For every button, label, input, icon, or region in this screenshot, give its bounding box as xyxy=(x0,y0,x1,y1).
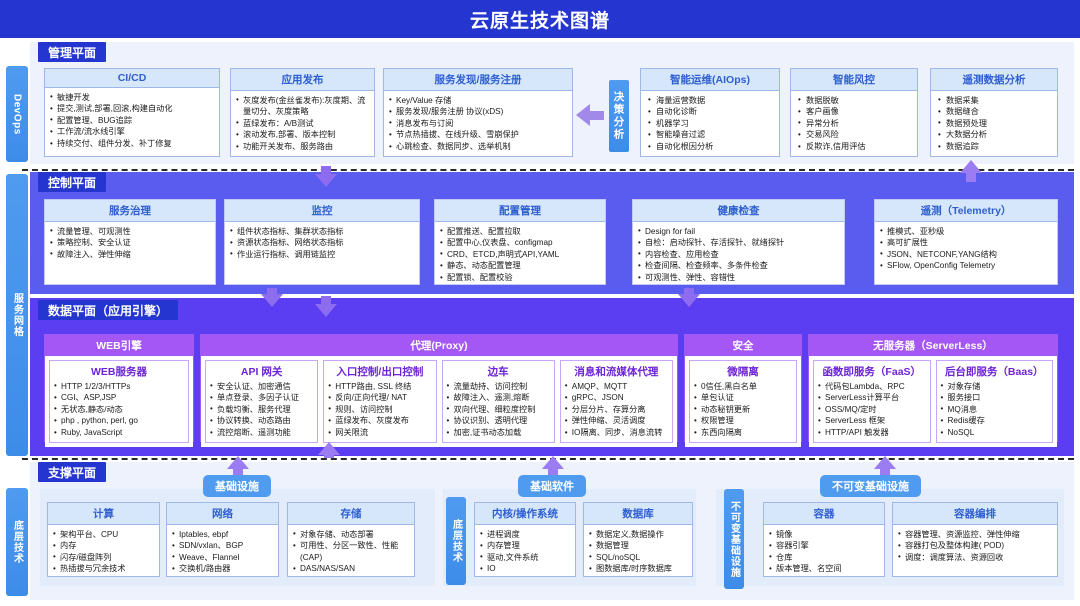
control-to-data-arrow-head-2 xyxy=(678,294,700,307)
subcard-web-server-items: HTTP 1/2/3/HTTPsCGI、ASP,JSP无状态,静态/动态php … xyxy=(54,381,184,439)
decision-analysis-label: 决策分析 xyxy=(612,91,627,141)
rail-label-immutable-infra: 不可变基础设施 xyxy=(727,501,742,578)
list-item: 容器引擎 xyxy=(769,540,879,552)
list-item: 数据缝合 xyxy=(936,106,1052,118)
rail-label-devops: DevOps xyxy=(12,94,23,135)
page-title: 云原生技术图谱 xyxy=(470,6,610,33)
list-item: 反向/正向代理/ NAT xyxy=(328,392,431,404)
list-item: 容器打包及整体构建( POD) xyxy=(898,540,1052,552)
list-item: 可观测性、弹性、容错性 xyxy=(638,272,839,284)
card-health-check: 健康检查 Design for fail自检：启动探针、存活探针、就绪探针内容检… xyxy=(632,199,845,285)
group-serverless: 无服务器（ServerLess） 函数即服务（FaaS） 代码包Lambda、R… xyxy=(808,334,1058,442)
list-item: 对象存储 xyxy=(941,381,1049,393)
decision-arrow-head xyxy=(576,104,590,126)
rail-label-underlying-tech-2: 底层技术 xyxy=(449,519,464,563)
card-compute-title: 计算 xyxy=(48,503,159,525)
card-app-release: 应用发布 灰度发布(金丝雀发布):灰度期、流量切分、灰度策略蓝绿发布：A/B测试… xyxy=(230,68,375,157)
card-monitoring: 监控 组件状态指标、集群状态指标资源状态指标、网络状态指标作业运行指标、调用链监… xyxy=(224,199,420,285)
chip-support-plane: 支撑平面 xyxy=(38,462,106,482)
sidebar-rail-underlying-tech-2: 底层技术 xyxy=(446,497,466,585)
telemetry-arrow-head xyxy=(960,160,982,173)
mgmt-to-control-arrow-stem xyxy=(321,166,331,174)
sidebar-rail-service-mesh: 服务网格 xyxy=(6,174,28,456)
list-item: 敏捷开发 xyxy=(50,92,214,104)
list-item: 服务发现/服务注册 协议(xDS) xyxy=(389,106,567,118)
data-up-arrow-head xyxy=(318,442,340,455)
subcard-baas-items: 对象存储服务接口MQ消息Redis缓存NoSQL xyxy=(941,381,1049,439)
mgmt-to-control-arrow-head xyxy=(315,174,337,187)
card-telemetry-title: 遥测（Telemetry） xyxy=(875,200,1057,222)
subcard-ingress-egress: 入口控制/出口控制 HTTP路由, SSL 终结反向/正向代理/ NAT规则、访… xyxy=(323,360,436,443)
list-item: 驱动,文件系统 xyxy=(480,552,570,564)
subcard-baas-title: 后台即服务（Baas） xyxy=(937,361,1053,380)
decision-analysis-chip: 决策分析 xyxy=(609,80,629,152)
pill-immutable-infrastructure: 不可变基础设施 xyxy=(820,475,921,497)
list-item: 自检：启动探针、存活探针、就绪探针 xyxy=(638,237,839,249)
card-service-governance: 服务治理 流量管理、可观测性策略控制、安全认证故障注入、弹性伸缩 xyxy=(44,199,216,285)
chip-control-plane-label: 控制平面 xyxy=(48,174,96,191)
list-item: IO xyxy=(480,563,570,575)
subcard-ingress-egress-items: HTTP路由, SSL 终结反向/正向代理/ NAT规则、访问控制蓝绿发布、灰度… xyxy=(328,381,431,439)
cloud-native-tech-map: 云原生技术图谱 DevOps 服务网格 底层技术 管理平面 控制平面 数据平面（… xyxy=(0,0,1080,606)
list-item: 数据预处理 xyxy=(936,118,1052,130)
list-item: 协议识别、透明代理 xyxy=(447,415,550,427)
list-item: 资源状态指标、网络状态指标 xyxy=(230,237,414,249)
card-aiops-title: 智能运维(AIOps) xyxy=(641,69,779,91)
list-item: 灰度发布(金丝雀发布):灰度期、流量切分、灰度策略 xyxy=(236,95,369,118)
list-item: 节点热插拔、在线升级、雪崩保护 xyxy=(389,129,567,141)
list-item: 心跳检查、数据同步、选举机制 xyxy=(389,141,567,153)
card-storage: 存储 对象存储、动态部署可用性、分区一致性、性能(CAP)DAS/NAS/SAN xyxy=(287,502,415,577)
service-mesh-top-divider xyxy=(22,169,1074,171)
subcard-faas: 函数即服务（FaaS） 代码包Lambda、RPCServerLess计算平台O… xyxy=(813,360,931,443)
telemetry-arrow-stem xyxy=(966,172,976,182)
list-item: php , python, perl, go xyxy=(54,415,184,427)
card-network-title: 网络 xyxy=(167,503,278,525)
pill-infrastructure: 基础设施 xyxy=(203,475,271,497)
subcard-faas-items: 代码包Lambda、RPCServerLess计算平台OSS/MQ/定时Serv… xyxy=(818,381,926,439)
card-intelligent-risk-title: 智能风控 xyxy=(791,69,917,91)
list-item: 动态秘钥更新 xyxy=(694,404,792,416)
card-monitoring-items: 组件状态指标、集群状态指标资源状态指标、网络状态指标作业运行指标、调用链监控 xyxy=(230,226,414,261)
list-item: 海量运营数据 xyxy=(646,95,774,107)
subcard-micro-segmentation: 微隔离 0信任,黑白名单单包认证动态秘钥更新权限管理东西向隔离 xyxy=(689,360,797,443)
group-serverless-title: 无服务器（ServerLess） xyxy=(809,335,1057,356)
list-item: 高可扩展性 xyxy=(880,237,1052,249)
pill-immutable-infrastructure-label: 不可变基础设施 xyxy=(832,478,909,494)
list-item: 故障注入、弹性伸缩 xyxy=(50,249,210,261)
basic-software-arrow-head xyxy=(542,456,564,469)
list-item: 滚动发布,部署、版本控制 xyxy=(236,129,369,141)
list-item: Key/Value 存储 xyxy=(389,95,567,107)
pill-infrastructure-label: 基础设施 xyxy=(215,478,259,494)
list-item: 负载均衡、服务代理 xyxy=(210,404,313,416)
list-item: 大数据分析 xyxy=(936,129,1052,141)
list-item: IO隔离、同步、消息流转 xyxy=(565,427,668,439)
card-telemetry-analysis-title: 遥测数据分析 xyxy=(931,69,1057,91)
list-item: 仓库 xyxy=(769,552,879,564)
subcard-micro-segmentation-title: 微隔离 xyxy=(690,361,796,380)
list-item: Redis缓存 xyxy=(941,415,1049,427)
card-database-items: 数据定义,数据操作数据管理SQL/noSQL图数据库/时序数据库 xyxy=(589,529,687,576)
group-web-engine: WEB引擎 WEB服务器 HTTP 1/2/3/HTTPsCGI、ASP,JSP… xyxy=(44,334,194,442)
card-container-title: 容器 xyxy=(764,503,884,525)
list-item: Design for fail xyxy=(638,226,839,238)
list-item: 静态、动态配置管理 xyxy=(440,260,600,272)
chip-management-plane: 管理平面 xyxy=(38,42,106,62)
card-cicd-items: 敏捷开发提交,测试,部署,回滚,构建自动化配置管理、BUG追踪工作流/流水线引擎… xyxy=(50,92,214,150)
card-telemetry-items: 推模式、亚秒级高可扩展性JSON、NETCONF,YANG结构SFlow, Op… xyxy=(880,226,1052,273)
list-item: OSS/MQ/定时 xyxy=(818,404,926,416)
card-intelligent-risk-items: 数据脱敏客户画像异常分析交易风险反欺诈,信用评估 xyxy=(796,95,912,153)
list-item: 配置锁、配置校验 xyxy=(440,272,600,284)
card-telemetry: 遥测（Telemetry） 推模式、亚秒级高可扩展性JSON、NETCONF,Y… xyxy=(874,199,1058,285)
list-item: MQ消息 xyxy=(941,404,1049,416)
list-item: 配置管理、BUG追踪 xyxy=(50,115,214,127)
subcard-api-gateway-items: 安全认证、加密通信单点登录、多因子认证负载均衡、服务代理协议转换、动态路由流控熔… xyxy=(210,381,313,439)
list-item: 推模式、亚秒级 xyxy=(880,226,1052,238)
title-bar: 云原生技术图谱 xyxy=(0,0,1080,38)
list-item: 数据脱敏 xyxy=(796,95,912,107)
infra-arrow-head xyxy=(227,456,249,469)
card-app-release-title: 应用发布 xyxy=(231,69,374,91)
list-item: 内存管理 xyxy=(480,540,570,552)
list-item: CRD、ETCD,声明式API,YAML xyxy=(440,249,600,261)
list-item: 规则、访问控制 xyxy=(328,404,431,416)
card-aiops: 智能运维(AIOps) 海量运营数据自动化诊断机器学习智能噪音过滤自动化根因分析 xyxy=(640,68,780,157)
pill-basic-software-label: 基础软件 xyxy=(530,478,574,494)
subcard-sidecar: 边车 流量劫持、访问控制故障注入、遥测,熔断双向代理、细粒度控制协议识别、透明代… xyxy=(442,360,555,443)
card-network-items: Iptables, ebpfSDN/vxlan、BGPWeave、Flannel… xyxy=(172,529,273,576)
list-item: 机器学习 xyxy=(646,118,774,130)
sidebar-rail-underlying-tech: 底层技术 xyxy=(6,488,28,596)
list-item: 蓝绿发布、灰度发布 xyxy=(328,415,431,427)
list-item: 代码包Lambda、RPC xyxy=(818,381,926,393)
rail-label-underlying-tech: 底层技术 xyxy=(10,520,25,564)
list-item: AMQP、MQTT xyxy=(565,381,668,393)
list-item: 单包认证 xyxy=(694,392,792,404)
card-cicd: CI/CD 敏捷开发提交,测试,部署,回滚,构建自动化配置管理、BUG追踪工作流… xyxy=(44,68,220,157)
list-item: 0信任,黑白名单 xyxy=(694,381,792,393)
list-item: 交易风险 xyxy=(796,129,912,141)
list-item: 东西向隔离 xyxy=(694,427,792,439)
list-item: 数据追踪 xyxy=(936,141,1052,153)
list-item: SQL/noSQL xyxy=(589,552,687,564)
card-storage-items: 对象存储、动态部署可用性、分区一致性、性能(CAP)DAS/NAS/SAN xyxy=(293,529,409,576)
subcard-message-media-proxy: 消息和流媒体代理 AMQP、MQTTgRPC、JSON分层分片、存算分离弹性伸缩… xyxy=(560,360,673,443)
list-item: ServerLess计算平台 xyxy=(818,392,926,404)
card-kernel-os-title: 内核/操作系统 xyxy=(475,503,575,525)
list-item: 版本管理、名空间 xyxy=(769,563,879,575)
list-item: 组件状态指标、集群状态指标 xyxy=(230,226,414,238)
list-item: 安全认证、加密通信 xyxy=(210,381,313,393)
list-item: SFlow, OpenConfig Telemetry xyxy=(880,260,1052,272)
card-aiops-items: 海量运营数据自动化诊断机器学习智能噪音过滤自动化根因分析 xyxy=(646,95,774,153)
list-item: 策略控制、安全认证 xyxy=(50,237,210,249)
card-kernel-os-items: 进程调度内存管理驱动,文件系统IO xyxy=(480,529,570,576)
list-item: 消息发布与订阅 xyxy=(389,118,567,130)
subcard-ingress-egress-title: 入口控制/出口控制 xyxy=(324,361,435,380)
pill-basic-software: 基础软件 xyxy=(518,475,586,497)
list-item: NoSQL xyxy=(941,427,1049,439)
list-item: 客户画像 xyxy=(796,106,912,118)
list-item: 反欺诈,信用评估 xyxy=(796,141,912,153)
list-item: 蓝绿发布：A/B测试 xyxy=(236,118,369,130)
group-proxy: 代理(Proxy) API 网关 安全认证、加密通信单点登录、多因子认证负载均衡… xyxy=(200,334,678,442)
chip-control-plane: 控制平面 xyxy=(38,172,106,192)
list-item: SDN/vxlan、BGP xyxy=(172,540,273,552)
card-config-management-title: 配置管理 xyxy=(435,200,605,222)
group-web-engine-title: WEB引擎 xyxy=(45,335,193,356)
list-item: 闪存/磁盘阵列 xyxy=(53,552,154,564)
list-item: 功能开关发布、服务路由 xyxy=(236,141,369,153)
data-plane-arrow-stem xyxy=(321,296,331,304)
list-item: gRPC、JSON xyxy=(565,392,668,404)
subcard-message-media-proxy-items: AMQP、MQTTgRPC、JSON分层分片、存算分离弹性伸缩、灵活调度IO隔离… xyxy=(565,381,668,439)
subcard-faas-title: 函数即服务（FaaS） xyxy=(814,361,930,380)
sidebar-rail-immutable-infra: 不可变基础设施 xyxy=(724,489,744,589)
card-storage-title: 存储 xyxy=(288,503,414,525)
subcard-sidecar-items: 流量劫持、访问控制故障注入、遥测,熔断双向代理、细粒度控制协议识别、透明代理加密… xyxy=(447,381,550,439)
card-telemetry-analysis-items: 数据采集数据缝合数据预处理大数据分析数据追踪 xyxy=(936,95,1052,153)
list-item: 协议转换、动态路由 xyxy=(210,415,313,427)
list-item: 提交,测试,部署,回滚,构建自动化 xyxy=(50,103,214,115)
list-item: 数据采集 xyxy=(936,95,1052,107)
list-item: 流控熔断、遥测功能 xyxy=(210,427,313,439)
list-item: 数据定义,数据操作 xyxy=(589,529,687,541)
list-item: 数据管理 xyxy=(589,540,687,552)
card-service-discovery-items: Key/Value 存储服务发现/服务注册 协议(xDS)消息发布与订阅节点热插… xyxy=(389,95,567,153)
list-item: 内存 xyxy=(53,540,154,552)
subcard-sidecar-title: 边车 xyxy=(443,361,554,380)
list-item: DAS/NAS/SAN xyxy=(293,563,409,575)
chip-data-plane: 数据平面（应用引擎） xyxy=(38,300,178,320)
list-item: Iptables, ebpf xyxy=(172,529,273,541)
card-config-management-items: 配置推送、配置拉取配置中心,仪表盘、configmapCRD、ETCD,声明式A… xyxy=(440,226,600,284)
decision-arrow-stem xyxy=(590,111,604,120)
card-container: 容器 镜像容器引擎仓库版本管理、名空间 xyxy=(763,502,885,577)
card-cicd-title: CI/CD xyxy=(45,69,219,88)
card-compute-items: 架构平台、CPU内存闪存/磁盘阵列热插拔与冗余技术 xyxy=(53,529,154,576)
list-item: 单点登录、多因子认证 xyxy=(210,392,313,404)
list-item: 热插拔与冗余技术 xyxy=(53,563,154,575)
list-item: 容器管理、资源监控、弹性伸缩 xyxy=(898,529,1052,541)
data-plane-arrow-head xyxy=(315,304,337,317)
list-item: 自动化诊断 xyxy=(646,106,774,118)
list-item: 服务接口 xyxy=(941,392,1049,404)
subcard-message-media-proxy-title: 消息和流媒体代理 xyxy=(561,361,672,380)
card-telemetry-analysis: 遥测数据分析 数据采集数据缝合数据预处理大数据分析数据追踪 xyxy=(930,68,1058,157)
card-kernel-os: 内核/操作系统 进程调度内存管理驱动,文件系统IO xyxy=(474,502,576,577)
card-service-governance-title: 服务治理 xyxy=(45,200,215,222)
list-item: 进程调度 xyxy=(480,529,570,541)
list-item: 权限管理 xyxy=(694,415,792,427)
list-item: 镜像 xyxy=(769,529,879,541)
chip-management-plane-label: 管理平面 xyxy=(48,44,96,61)
list-item: ServerLess 框架 xyxy=(818,415,926,427)
list-item: 自动化根因分析 xyxy=(646,141,774,153)
card-health-check-items: Design for fail自检：启动探针、存活探针、就绪探针内容检查、应用检… xyxy=(638,226,839,284)
card-service-discovery-title: 服务发现/服务注册 xyxy=(384,69,572,91)
list-item: 调度：调度算法、资源回收 xyxy=(898,552,1052,564)
card-network: 网络 Iptables, ebpfSDN/vxlan、BGPWeave、Flan… xyxy=(166,502,279,577)
list-item: CGI、ASP,JSP xyxy=(54,392,184,404)
group-proxy-title: 代理(Proxy) xyxy=(201,335,677,356)
card-container-orchestration: 容器编排 容器管理、资源监控、弹性伸缩容器打包及整体构建( POD)调度：调度算… xyxy=(892,502,1058,577)
list-item: Ruby, JavaScript xyxy=(54,427,184,439)
list-item: 加密,证书动态加载 xyxy=(447,427,550,439)
list-item: 架构平台、CPU xyxy=(53,529,154,541)
subcard-web-server-title: WEB服务器 xyxy=(50,361,188,380)
list-item: 故障注入、遥测,熔断 xyxy=(447,392,550,404)
list-item: 工作流/流水线引擎 xyxy=(50,126,214,138)
group-security-title: 安全 xyxy=(685,335,801,356)
card-database: 数据库 数据定义,数据操作数据管理SQL/noSQL图数据库/时序数据库 xyxy=(583,502,693,577)
card-monitoring-title: 监控 xyxy=(225,200,419,222)
list-item: 内容检查、应用检查 xyxy=(638,249,839,261)
list-item: 对象存储、动态部署 xyxy=(293,529,409,541)
list-item: 配置推送、配置拉取 xyxy=(440,226,600,238)
control-to-data-arrow-head-1 xyxy=(261,294,283,307)
card-service-governance-items: 流量管理、可观测性策略控制、安全认证故障注入、弹性伸缩 xyxy=(50,226,210,261)
card-service-discovery: 服务发现/服务注册 Key/Value 存储服务发现/服务注册 协议(xDS)消… xyxy=(383,68,573,157)
list-item: 持续交付、组件分发、补丁修复 xyxy=(50,138,214,150)
list-item: 可用性、分区一致性、性能(CAP) xyxy=(293,540,409,563)
card-database-title: 数据库 xyxy=(584,503,692,525)
list-item: Weave、Flannel xyxy=(172,552,273,564)
group-security: 安全 微隔离 0信任,黑白名单单包认证动态秘钥更新权限管理东西向隔离 xyxy=(684,334,802,442)
list-item: 配置中心,仪表盘、configmap xyxy=(440,237,600,249)
list-item: 网关限流 xyxy=(328,427,431,439)
subcard-baas: 后台即服务（Baas） 对象存储服务接口MQ消息Redis缓存NoSQL xyxy=(936,360,1054,443)
list-item: 作业运行指标、调用链监控 xyxy=(230,249,414,261)
subcard-api-gateway: API 网关 安全认证、加密通信单点登录、多因子认证负载均衡、服务代理协议转换、… xyxy=(205,360,318,443)
card-container-orchestration-items: 容器管理、资源监控、弹性伸缩容器打包及整体构建( POD)调度：调度算法、资源回… xyxy=(898,529,1052,564)
chip-support-plane-label: 支撑平面 xyxy=(48,464,96,481)
list-item: HTTP/API 触发器 xyxy=(818,427,926,439)
sidebar-rail-devops: DevOps xyxy=(6,66,28,162)
list-item: HTTP 1/2/3/HTTPs xyxy=(54,381,184,393)
list-item: 流量管理、可观测性 xyxy=(50,226,210,238)
card-health-check-title: 健康检查 xyxy=(633,200,844,222)
list-item: JSON、NETCONF,YANG结构 xyxy=(880,249,1052,261)
list-item: 异常分析 xyxy=(796,118,912,130)
card-container-orchestration-title: 容器编排 xyxy=(893,503,1057,525)
card-compute: 计算 架构平台、CPU内存闪存/磁盘阵列热插拔与冗余技术 xyxy=(47,502,160,577)
list-item: 分层分片、存算分离 xyxy=(565,404,668,416)
list-item: HTTP路由, SSL 终结 xyxy=(328,381,431,393)
rail-label-service-mesh: 服务网格 xyxy=(10,293,25,337)
card-container-items: 镜像容器引擎仓库版本管理、名空间 xyxy=(769,529,879,576)
chip-data-plane-label: 数据平面（应用引擎） xyxy=(48,302,168,319)
subcard-api-gateway-title: API 网关 xyxy=(206,361,317,380)
card-intelligent-risk: 智能风控 数据脱敏客户画像异常分析交易风险反欺诈,信用评估 xyxy=(790,68,918,157)
list-item: 检查间隔、检查频率、多条件检查 xyxy=(638,260,839,272)
list-item: 流量劫持、访问控制 xyxy=(447,381,550,393)
list-item: 弹性伸缩、灵活调度 xyxy=(565,415,668,427)
list-item: 双向代理、细粒度控制 xyxy=(447,404,550,416)
card-app-release-items: 灰度发布(金丝雀发布):灰度期、流量切分、灰度策略蓝绿发布：A/B测试滚动发布,… xyxy=(236,95,369,153)
list-item: 智能噪音过滤 xyxy=(646,129,774,141)
card-config-management: 配置管理 配置推送、配置拉取配置中心,仪表盘、configmapCRD、ETCD… xyxy=(434,199,606,285)
list-item: 交换机/路由器 xyxy=(172,563,273,575)
subcard-web-server: WEB服务器 HTTP 1/2/3/HTTPsCGI、ASP,JSP无状态,静态… xyxy=(49,360,189,443)
list-item: 图数据库/时序数据库 xyxy=(589,563,687,575)
list-item: 无状态,静态/动态 xyxy=(54,404,184,416)
subcard-micro-segmentation-items: 0信任,黑白名单单包认证动态秘钥更新权限管理东西向隔离 xyxy=(694,381,792,439)
immutable-arrow-head xyxy=(874,456,896,469)
